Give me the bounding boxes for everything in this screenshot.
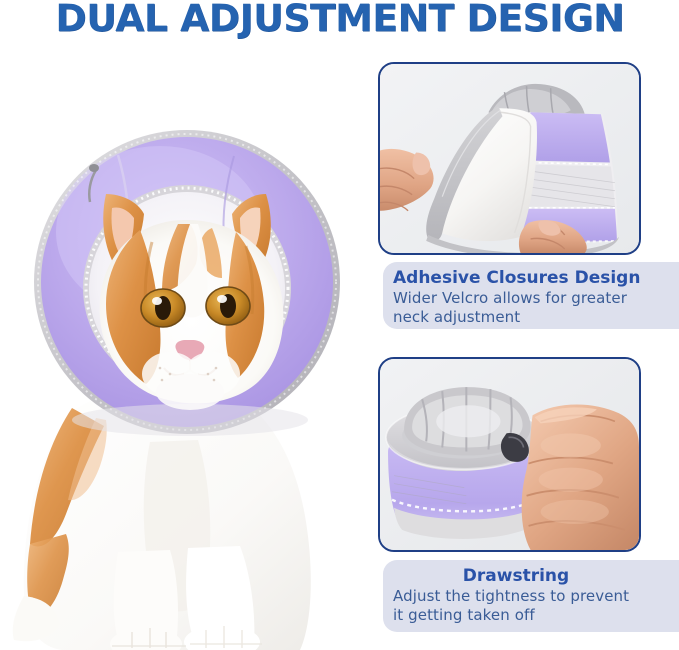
- caption-line: Wider Velcro allows for greater: [393, 289, 679, 308]
- drawstring-photo-illustration: [380, 359, 639, 550]
- caption-title-drawstring: Drawstring: [393, 565, 679, 587]
- hand-right-drawstring: [522, 404, 639, 550]
- caption-body-drawstring: Adjust the tightness to prevent it getti…: [393, 587, 679, 625]
- hero-illustration: [0, 52, 372, 650]
- caption-line: Adjust the tightness to prevent: [393, 587, 679, 606]
- caption-line: it getting taken off: [393, 606, 679, 625]
- velcro-photo-illustration: [380, 64, 639, 253]
- caption-adhesive-closures: Adhesive Closures Design Wider Velcro al…: [383, 262, 679, 329]
- caption-line: neck adjustment: [393, 308, 679, 327]
- page-title: DUAL ADJUSTMENT DESIGN: [55, 0, 624, 39]
- caption-title-adhesive: Adhesive Closures Design: [393, 267, 679, 289]
- drawstring-adjust-photo: [378, 357, 641, 552]
- caption-body-adhesive: Wider Velcro allows for greater neck adj…: [393, 289, 679, 327]
- title-banner: DUAL ADJUSTMENT DESIGN: [0, 0, 679, 48]
- feature-column: Adhesive Closures Design Wider Velcro al…: [372, 52, 679, 650]
- velcro-closure-photo: [378, 62, 641, 255]
- cat-head: [100, 194, 284, 410]
- caption-drawstring: Drawstring Adjust the tightness to preve…: [383, 560, 679, 632]
- cat-wearing-recovery-collar-photo: [0, 52, 372, 650]
